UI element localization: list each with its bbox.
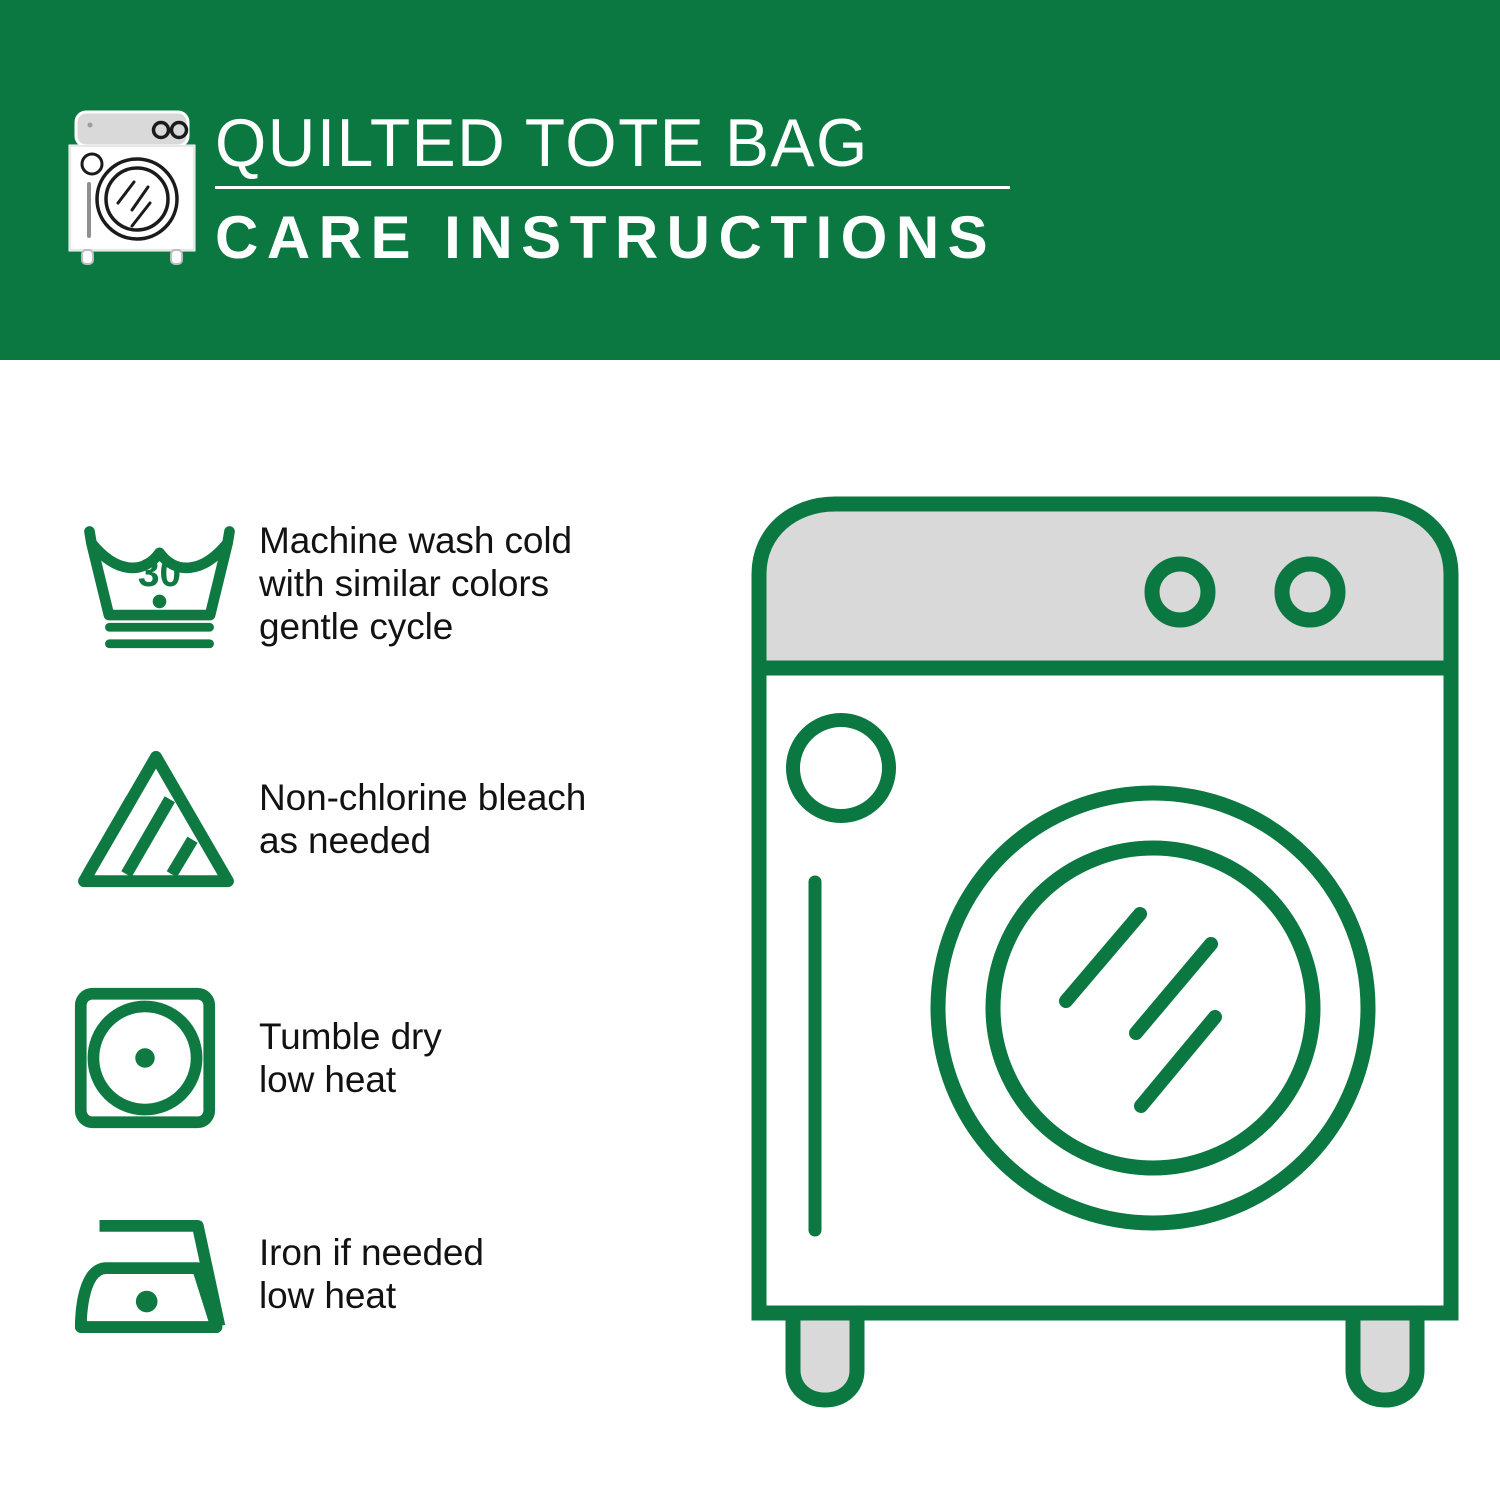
tumble-dry-icon bbox=[72, 985, 247, 1131]
care-label-tumble-dry: Tumble dry low heat bbox=[247, 1015, 722, 1101]
leg-right bbox=[1353, 1313, 1417, 1400]
page-subtitle: CARE INSTRUCTIONS bbox=[215, 205, 1015, 271]
wash-temperature-value: 30 bbox=[138, 552, 181, 595]
care-label-machine-wash: Machine wash cold with similar colors ge… bbox=[247, 519, 722, 648]
care-row-iron: Iron if needed low heat bbox=[72, 1210, 722, 1338]
machine-wash-tub-icon: 30 bbox=[72, 510, 247, 656]
care-instructions-list: 30 Machine wash cold with similar colors… bbox=[0, 360, 740, 1500]
header-text-block: QUILTED TOTE BAG CARE INSTRUCTIONS bbox=[215, 104, 1015, 271]
header-band: QUILTED TOTE BAG CARE INSTRUCTIONS bbox=[0, 0, 1500, 360]
washing-machine-icon bbox=[62, 108, 202, 266]
care-instructions-page: QUILTED TOTE BAG CARE INSTRUCTIONS 30 bbox=[0, 0, 1500, 1500]
iron-icon bbox=[72, 1210, 247, 1338]
title-divider bbox=[215, 186, 1010, 189]
care-row-bleach: Non-chlorine bleach as needed bbox=[72, 745, 722, 893]
care-row-machine-wash: 30 Machine wash cold with similar colors… bbox=[72, 510, 722, 656]
non-chlorine-bleach-triangle-icon bbox=[72, 745, 247, 893]
care-row-tumble-dry: Tumble dry low heat bbox=[72, 985, 722, 1131]
page-title: QUILTED TOTE BAG bbox=[215, 104, 991, 182]
care-label-bleach: Non-chlorine bleach as needed bbox=[247, 776, 722, 862]
leg-left bbox=[793, 1313, 857, 1400]
front-load-washing-machine-illustration bbox=[745, 490, 1465, 1430]
care-label-iron: Iron if needed low heat bbox=[247, 1231, 722, 1317]
control-panel bbox=[759, 504, 1451, 668]
